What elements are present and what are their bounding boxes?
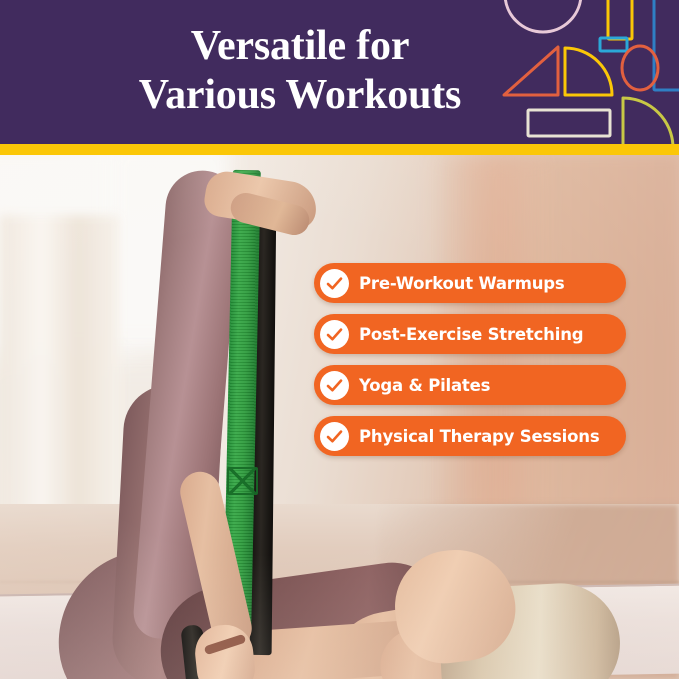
vertical-rectangle-outline-icon [608,0,632,39]
benefit-pill-yoga-and-pilates[interactable]: Yoga & Pilates [314,365,626,405]
strap-loop [227,467,258,495]
header-banner: Versatile for Various Workouts [0,0,679,144]
wide-rectangle-outline-icon [528,110,610,136]
yellow-divider [0,144,679,155]
triangle-outline-icon [504,47,558,95]
benefits-list: Pre-Workout Warmups Post-Exercise Stretc… [314,263,626,467]
benefit-label: Pre-Workout Warmups [359,274,565,293]
check-circle-icon [320,371,349,400]
benefit-label: Physical Therapy Sessions [359,427,599,446]
benefit-label: Yoga & Pilates [359,376,490,395]
circle-outline-icon [505,0,581,32]
benefit-label: Post-Exercise Stretching [359,325,583,344]
check-circle-icon [320,422,349,451]
benefit-pill-physical-therapy-sessions[interactable]: Physical Therapy Sessions [314,416,626,456]
check-circle-icon [320,269,349,298]
quarter-circle-outline-icon [565,48,612,95]
benefit-pill-post-exercise-stretching[interactable]: Post-Exercise Stretching [314,314,626,354]
product-infographic: Versatile for Various Workouts [0,0,679,679]
quarter-circle-outline-olive-icon [623,98,673,144]
check-circle-icon [320,320,349,349]
decorative-shapes [499,0,679,144]
benefit-pill-pre-workout-warmups[interactable]: Pre-Workout Warmups [314,263,626,303]
